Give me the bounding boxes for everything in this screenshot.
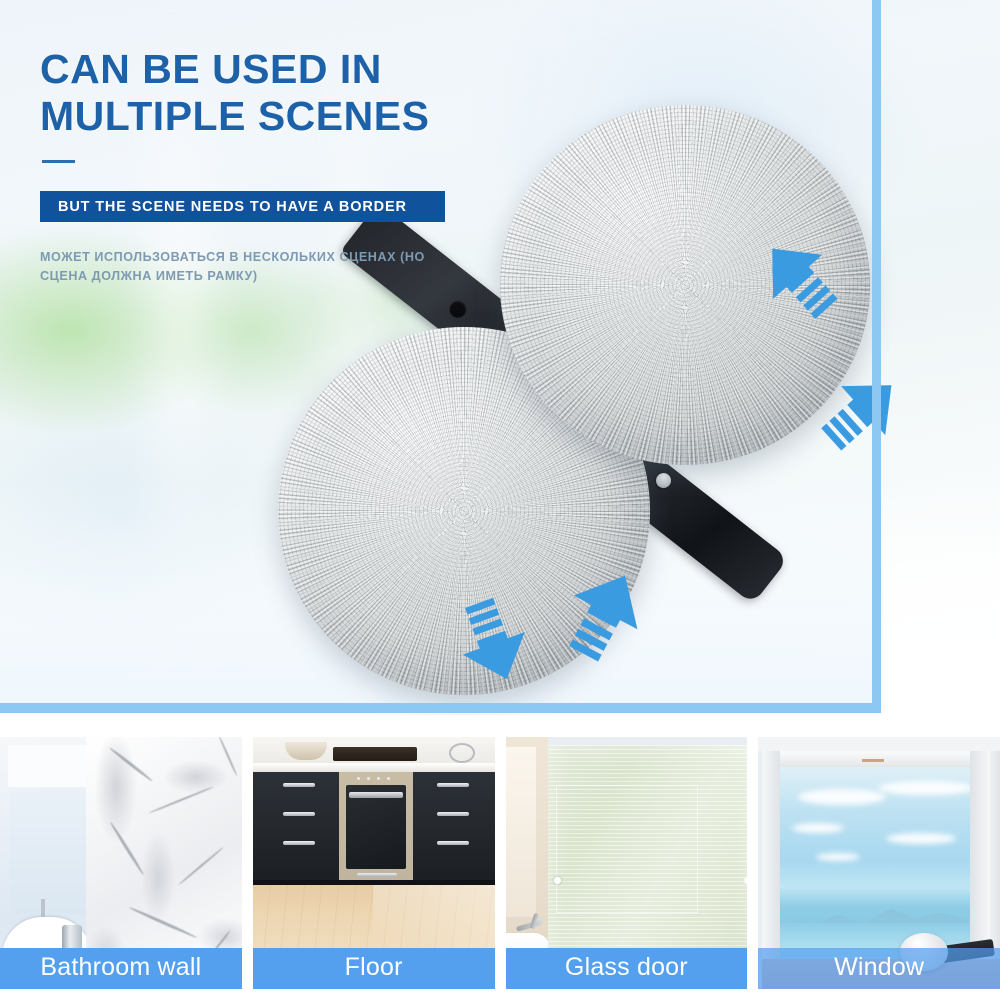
hero-section: CAN BE USED IN MULTIPLE SCENES BUT THE S… <box>0 0 1000 715</box>
door-handle-knob <box>554 877 561 884</box>
marble-vein <box>129 906 198 939</box>
cloud <box>798 789 886 805</box>
russian-caption: МОЖЕТ ИСПОЛЬЗОВАТЬСЯ В НЕСКОЛЬКИХ СЦЕНАХ… <box>40 248 470 285</box>
oven-knob <box>357 777 360 780</box>
double-round-microfiber-mop <box>230 95 890 715</box>
oven-knob <box>367 777 370 780</box>
marble-vein <box>178 847 224 886</box>
scene-label: Floor <box>253 948 495 989</box>
kitchen-countertop-object <box>333 747 417 761</box>
banner-note: BUT THE SCENE NEEDS TO HAVE A BORDER <box>40 191 445 222</box>
cloud <box>886 833 956 844</box>
cloud <box>792 823 844 833</box>
wall-recess <box>506 747 536 917</box>
scene-thumbnail-strip: Bathroom wall <box>0 737 1000 989</box>
marble-vein <box>218 737 238 777</box>
product-marketing-image: CAN BE USED IN MULTIPLE SCENES BUT THE S… <box>0 0 1000 1000</box>
cabinet-handle <box>437 841 469 845</box>
frame-border-right <box>872 0 881 712</box>
glass-inner-reflection <box>556 785 698 913</box>
scene-label: Bathroom wall <box>0 948 242 989</box>
bathroom-upper-wall <box>8 745 86 787</box>
cloud <box>816 853 860 861</box>
kitchen-countertop <box>253 763 495 772</box>
cabinet-handle <box>283 812 315 816</box>
oven-handle <box>349 792 403 798</box>
title-underline-rule <box>42 160 75 163</box>
door-edge-knob <box>744 877 748 884</box>
scene-label: Glass door <box>506 948 748 989</box>
scene-floor[interactable]: Floor <box>253 737 495 989</box>
kitchen-pan <box>449 743 475 763</box>
scene-bathroom-wall[interactable]: Bathroom wall <box>0 737 242 989</box>
window-latch <box>862 759 884 762</box>
bathroom-panel <box>10 789 86 914</box>
cabinet-handle <box>283 783 315 787</box>
cabinet-handle <box>437 812 469 816</box>
kitchen-cabinet-right <box>413 772 495 882</box>
frame-border-bottom <box>0 703 881 713</box>
headline-line-1: CAN BE USED IN <box>40 46 382 92</box>
oven-knob <box>387 777 390 780</box>
cloud <box>878 781 974 795</box>
headline-line-2: MULTIPLE SCENES <box>40 93 560 140</box>
marble-vein <box>109 747 153 783</box>
cabinet-handle <box>283 841 315 845</box>
scene-window[interactable]: Window <box>758 737 1000 989</box>
marble-vein <box>148 786 214 814</box>
cabinet-handle <box>437 783 469 787</box>
oven-knob <box>377 777 380 780</box>
window-ceiling <box>758 737 1000 751</box>
scene-glass-door[interactable]: Glass door <box>506 737 748 989</box>
kitchen-cabinet-left <box>253 772 339 882</box>
page-title: CAN BE USED IN MULTIPLE SCENES <box>40 46 560 139</box>
scene-label: Window <box>758 948 1000 989</box>
cabinet-handle <box>357 873 397 877</box>
marble-vein <box>109 821 144 875</box>
